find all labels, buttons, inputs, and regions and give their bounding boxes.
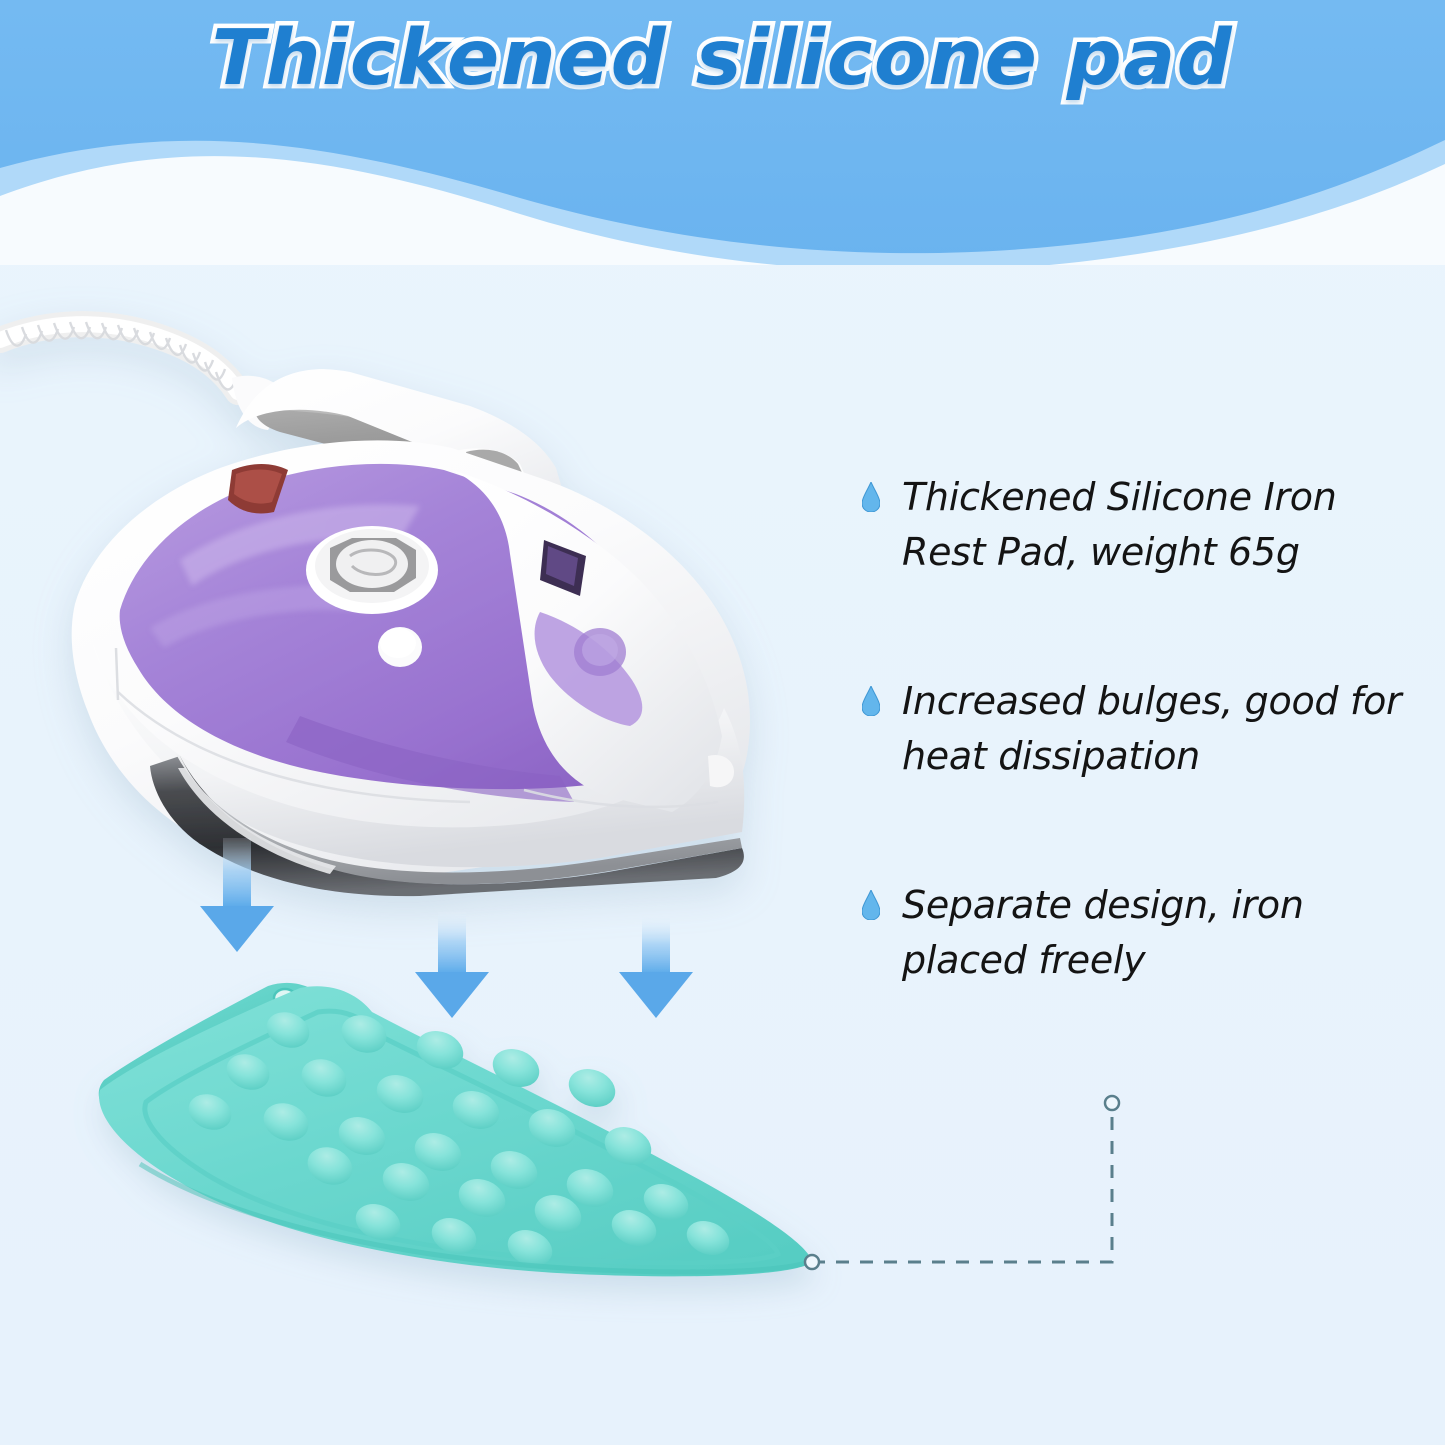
- iron-lower-shell: [92, 640, 744, 867]
- iron-front-nose: [452, 470, 722, 812]
- front-knob[interactable]: [708, 755, 734, 787]
- feature-text-3: Separate design, iron placed freely: [902, 878, 1422, 988]
- arrow-down-1: [200, 838, 274, 952]
- dimension-callout: [805, 1096, 1119, 1269]
- direction-arrows: [200, 838, 693, 1018]
- pad-heel-tab: [99, 983, 330, 1124]
- water-drop-icon: [862, 890, 880, 920]
- steam-control-dial[interactable]: [306, 526, 438, 614]
- infographic-page: Thickened silicone pad: [0, 0, 1445, 1445]
- power-cord: [0, 322, 238, 392]
- iron-body: [72, 440, 750, 878]
- iron-soleplate: [150, 754, 744, 896]
- feature-list: Thickened Silicone Iron Rest Pad, weight…: [862, 470, 1422, 989]
- pad-body: [99, 986, 812, 1276]
- water-drop-icon: [862, 686, 880, 716]
- header-banner: Thickened silicone pad: [0, 0, 1445, 265]
- water-drop-icon: [862, 482, 880, 512]
- feature-item-1: Thickened Silicone Iron Rest Pad, weight…: [862, 470, 1422, 580]
- arrow-down-3: [619, 916, 693, 1018]
- pad-hanging-hole: [274, 989, 296, 1007]
- pad-bumps: [183, 1006, 734, 1272]
- steam-iron-image: [0, 322, 750, 896]
- indicator-light: [228, 464, 288, 514]
- iron-water-tank: [120, 464, 676, 802]
- feature-text-2: Increased bulges, good for heat dissipat…: [902, 674, 1422, 784]
- pad-inner-border: [145, 1011, 778, 1263]
- side-vent-slot: [540, 540, 586, 596]
- tank-tip-window: [535, 612, 643, 726]
- arrow-down-2: [415, 912, 489, 1018]
- callout-endpoint-start: [805, 1255, 819, 1269]
- iron-handle-body: [236, 369, 576, 560]
- handle-rear-cap: [466, 450, 534, 509]
- page-title: Thickened silicone pad: [0, 14, 1445, 103]
- callout-endpoint-end: [1105, 1096, 1119, 1110]
- iron-handle-grip: [254, 391, 546, 516]
- spray-button[interactable]: [378, 627, 422, 667]
- cord-boot: [232, 376, 288, 430]
- feature-item-2: Increased bulges, good for heat dissipat…: [862, 674, 1422, 784]
- silicone-iron-rest-pad-image: [99, 983, 812, 1276]
- handle-rear-post: [452, 448, 560, 571]
- pad-bottom-rim: [140, 1164, 810, 1272]
- feature-text-1: Thickened Silicone Iron Rest Pad, weight…: [902, 470, 1422, 580]
- feature-item-3: Separate design, iron placed freely: [862, 878, 1422, 988]
